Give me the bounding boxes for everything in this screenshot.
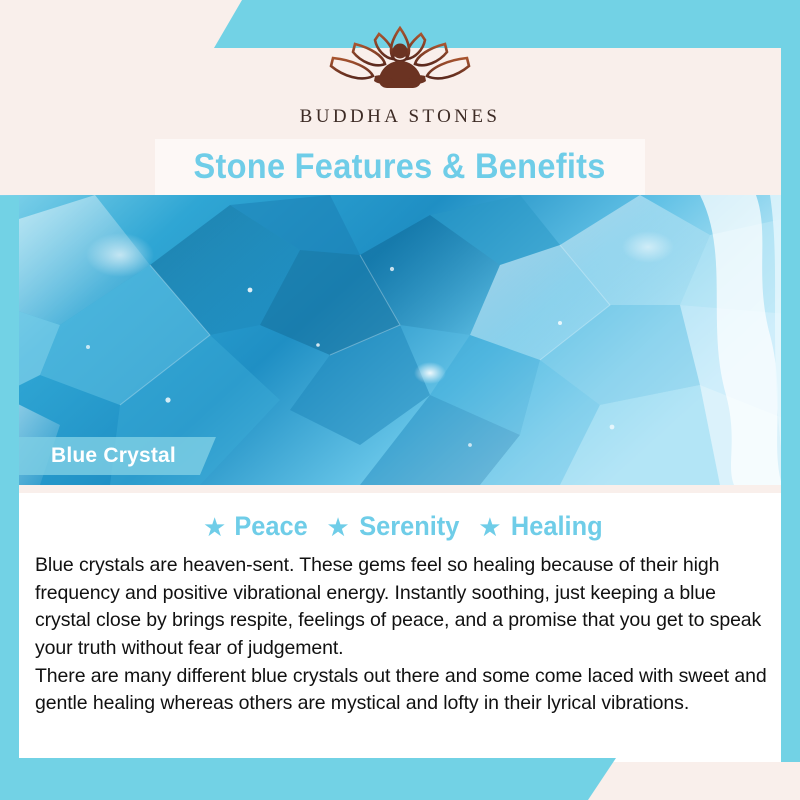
benefits-list: ★ Peace ★ Serenity ★ Healing bbox=[35, 511, 773, 542]
description-paragraph-1: Blue crystals are heaven-sent. These gem… bbox=[35, 552, 773, 663]
content-panel: ★ Peace ★ Serenity ★ Healing Blue crysta… bbox=[19, 493, 781, 762]
star-icon: ★ bbox=[478, 514, 501, 540]
benefit-label: Healing bbox=[510, 511, 602, 542]
brand-logo: BUDDHA STONES bbox=[0, 18, 800, 138]
benefit-label: Serenity bbox=[359, 511, 459, 542]
description-paragraph-2: There are many different blue crystals o… bbox=[35, 663, 773, 718]
page-title: Stone Features & Benefits bbox=[194, 147, 606, 187]
image-caption: Blue Crystal bbox=[19, 437, 216, 475]
benefit-item-serenity: ★ Serenity bbox=[326, 511, 462, 542]
benefit-item-healing: ★ Healing bbox=[478, 511, 605, 542]
brand-name: BUDDHA STONES bbox=[300, 106, 501, 128]
infographic-card: BUDDHA STONES Stone Features & Benefits bbox=[0, 0, 800, 800]
star-icon: ★ bbox=[326, 514, 349, 540]
benefit-item-peace: ★ Peace bbox=[203, 511, 310, 542]
star-icon: ★ bbox=[203, 514, 226, 540]
lotus-meditation-icon bbox=[315, 18, 485, 102]
image-caption-label: Blue Crystal bbox=[51, 444, 176, 468]
description-body: Blue crystals are heaven-sent. These gem… bbox=[35, 552, 773, 718]
bottom-accent-shape bbox=[0, 758, 616, 800]
benefit-label: Peace bbox=[235, 511, 308, 542]
hero-image: Blue Crystal bbox=[0, 195, 800, 485]
left-accent-border bbox=[0, 196, 19, 800]
page-title-band: Stone Features & Benefits bbox=[155, 139, 645, 195]
